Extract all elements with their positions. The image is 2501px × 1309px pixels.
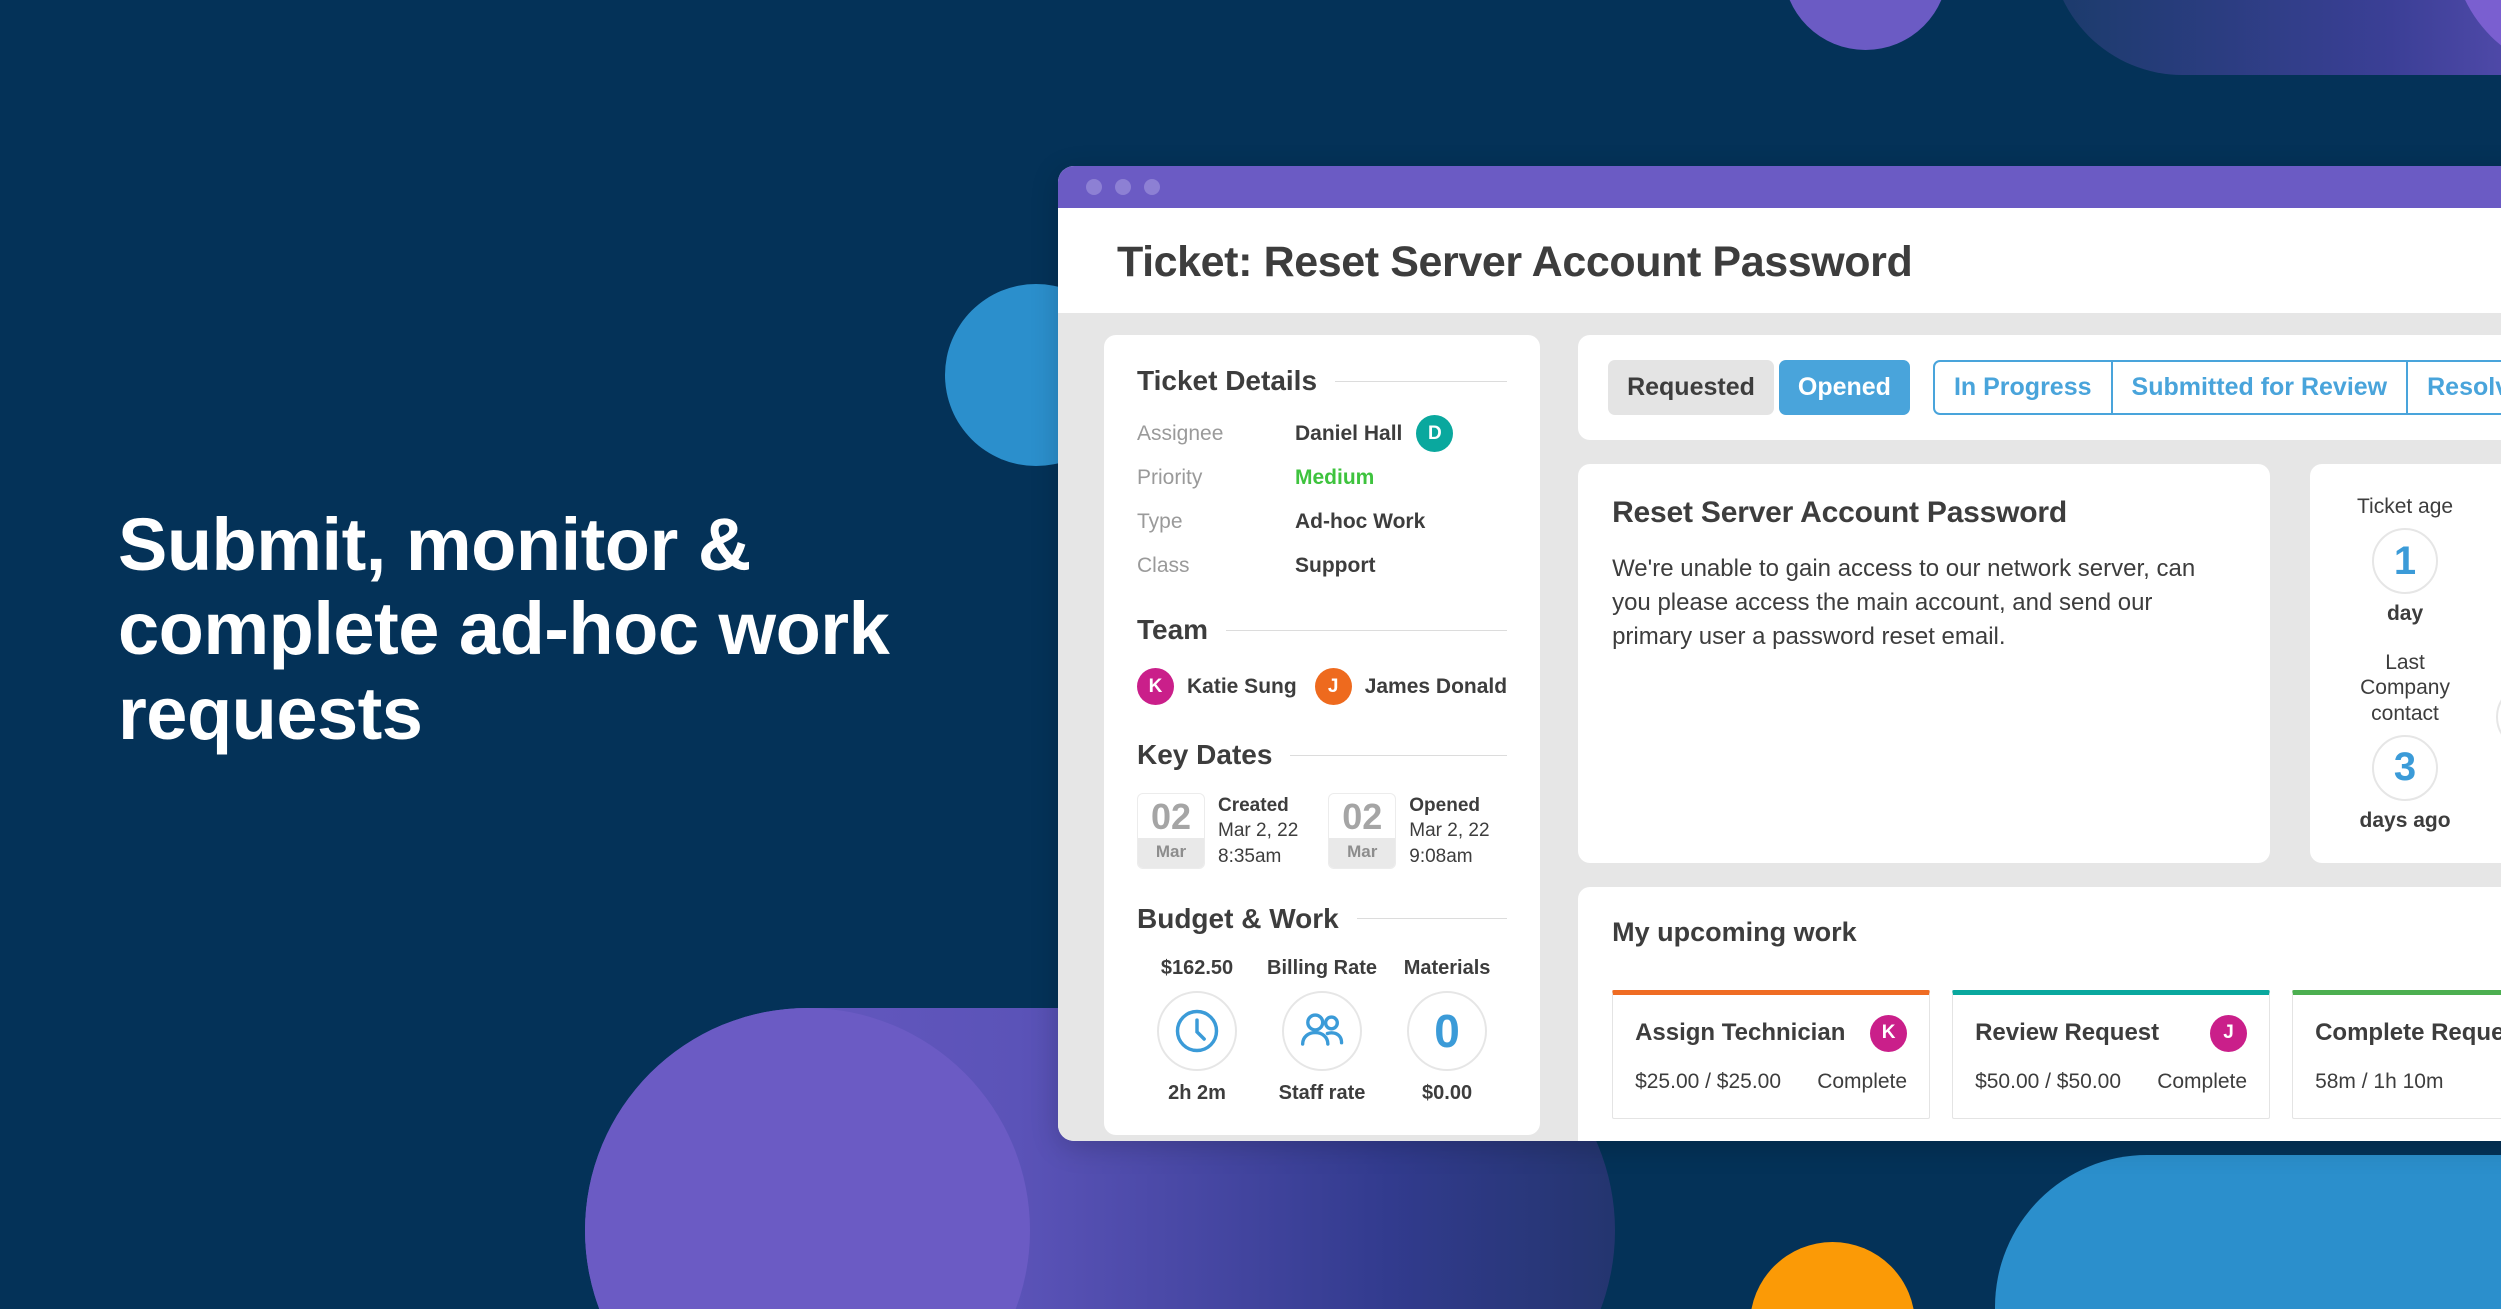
decorative-purple-pill-top: [2050, 0, 2501, 75]
window-content: Ticket Details Assignee Daniel Hall D Pr…: [1058, 313, 2501, 1141]
ticket-description-body: We're unable to gain access to our netwo…: [1612, 552, 2236, 654]
section-title: Key Dates: [1137, 739, 1272, 771]
upcoming-work-list: Assign Technician K $25.00 / $25.00 Comp…: [1612, 990, 2501, 1119]
window-titlebar: [1058, 166, 2501, 208]
team-member[interactable]: J James Donald: [1315, 668, 1507, 705]
date-text: Created Mar 2, 22 8:35am: [1218, 793, 1298, 869]
detail-row-class: Class Support: [1137, 551, 1507, 580]
budget-item-materials: Materials 0 $0.00: [1387, 957, 1507, 1105]
sidebar-column: Ticket Details Assignee Daniel Hall D Pr…: [1104, 335, 1540, 1141]
work-item-footer: 58m / 1h 10m Activ: [2315, 1070, 2501, 1094]
work-item-title: Review Request: [1975, 1019, 2159, 1047]
ticket-details-card: Ticket Details Assignee Daniel Hall D Pr…: [1104, 335, 1540, 1135]
work-item-progress: 58m / 1h 10m: [2315, 1070, 2443, 1094]
budget-materials-label: Materials: [1387, 957, 1507, 980]
window-dot-icon-3[interactable]: [1144, 179, 1160, 195]
hero-banner: Submit, monitor & complete ad-hoc work r…: [0, 0, 2501, 1309]
date-day: 02: [1329, 794, 1395, 838]
team-member-name: James Donald: [1365, 675, 1507, 699]
team-member-name: Katie Sung: [1187, 675, 1297, 699]
decorative-blue-pill-bottom: [1995, 1155, 2501, 1309]
budget-rate-label: Billing Rate: [1262, 957, 1382, 980]
ticket-details-heading: Ticket Details: [1137, 365, 1507, 397]
work-item[interactable]: Complete Request J 58m / 1h 10m Activ: [2292, 990, 2501, 1119]
work-item-footer: $25.00 / $25.00 Complete: [1635, 1070, 1907, 1094]
team-list: K Katie Sung J James Donald: [1137, 668, 1507, 705]
status-flow-card: Requested Opened In Progress Submitted f…: [1578, 335, 2501, 440]
date-time: 9:08am: [1409, 844, 1489, 869]
date-text: Opened Mar 2, 22 9:08am: [1409, 793, 1489, 869]
section-title: Team: [1137, 614, 1208, 646]
date-month: Mar: [1138, 838, 1204, 868]
divider: [1357, 918, 1507, 919]
stat-label: Last Company contact: [2344, 650, 2466, 726]
work-item[interactable]: Review Request J $50.00 / $50.00 Complet…: [1952, 990, 2270, 1119]
avatar: K: [1870, 1015, 1907, 1052]
status-step-submitted-for-review[interactable]: Submitted for Review: [2113, 362, 2409, 413]
detail-value: Ad-hoc Work: [1295, 510, 1425, 534]
work-item-header: Review Request J: [1975, 1015, 2247, 1052]
budget-rate-type: Staff rate: [1262, 1082, 1382, 1105]
stat-last-work-done: Last work d 2 hours ag: [2496, 494, 2501, 626]
stat-overdue: Overdue N/A: [2496, 650, 2501, 833]
detail-value: Daniel Hall D: [1295, 415, 1453, 452]
team-heading: Team: [1137, 614, 1507, 646]
status-badge: Complete: [2157, 1070, 2247, 1094]
number-icon: 0: [1407, 991, 1487, 1071]
page-title: Ticket: Reset Server Account Password: [1058, 208, 2501, 313]
stat-label: Overdue: [2496, 650, 2501, 675]
people-icon: [1282, 991, 1362, 1071]
ticket-stats-card: Ticket age 1 day Last work d 2 hours ag …: [2310, 464, 2501, 863]
ticket-description-card: Reset Server Account Password We're unab…: [1578, 464, 2270, 863]
work-item-footer: $50.00 / $50.00 Complete: [1975, 1070, 2247, 1094]
divider: [1290, 755, 1507, 756]
ticket-description-title: Reset Server Account Password: [1612, 496, 2236, 530]
stat-label: Last work d: [2496, 494, 2501, 519]
stat-ticket-age: Ticket age 1 day: [2344, 494, 2466, 626]
work-item-progress: $25.00 / $25.00: [1635, 1070, 1781, 1094]
budget-materials-cost: $0.00: [1387, 1082, 1507, 1105]
clock-icon: [1157, 991, 1237, 1071]
section-title: Budget & Work: [1137, 903, 1339, 935]
date-month: Mar: [1329, 838, 1395, 868]
status-step-in-progress[interactable]: In Progress: [1935, 362, 2113, 413]
stats-grid: Ticket age 1 day Last work d 2 hours ag …: [2344, 494, 2501, 833]
detail-label: Priority: [1137, 466, 1295, 490]
date-chip: 02 Mar: [1137, 793, 1205, 869]
detail-row-assignee: Assignee Daniel Hall D: [1137, 419, 1507, 448]
stat-unit: hours ag: [2496, 602, 2501, 626]
status-step-group: In Progress Submitted for Review Resolve…: [1933, 360, 2501, 415]
priority-value: Medium: [1295, 466, 1374, 490]
date-value: Mar 2, 22: [1409, 818, 1489, 843]
status-step-opened[interactable]: Opened: [1779, 360, 1910, 415]
avatar: J: [2210, 1015, 2247, 1052]
assignee-name: Daniel Hall: [1295, 422, 1402, 446]
status-step-requested[interactable]: Requested: [1608, 360, 1774, 415]
work-item-header: Complete Request J: [2315, 1015, 2501, 1052]
window-dot-icon-2[interactable]: [1115, 179, 1131, 195]
section-title: Ticket Details: [1137, 365, 1317, 397]
date-label: Opened: [1409, 793, 1489, 818]
detail-label: Assignee: [1137, 422, 1295, 446]
date-label: Created: [1218, 793, 1298, 818]
key-dates-heading: Key Dates: [1137, 739, 1507, 771]
middle-row: Reset Server Account Password We're unab…: [1578, 464, 2501, 863]
stat-unit: day: [2344, 602, 2466, 626]
divider: [1335, 381, 1507, 382]
status-step-resolved[interactable]: Resolved: [2408, 362, 2501, 413]
divider: [1226, 630, 1507, 631]
budget-amount: $162.50: [1137, 957, 1257, 980]
key-dates-list: 02 Mar Created Mar 2, 22 8:35am 02: [1137, 793, 1507, 869]
budget-item-time: $162.50 2h 2m: [1137, 957, 1257, 1105]
date-chip: 02 Mar: [1328, 793, 1396, 869]
date-day: 02: [1138, 794, 1204, 838]
avatar: K: [1137, 668, 1174, 705]
work-item[interactable]: Assign Technician K $25.00 / $25.00 Comp…: [1612, 990, 1930, 1119]
budget-work-heading: Budget & Work: [1137, 903, 1507, 935]
date-value: Mar 2, 22: [1218, 818, 1298, 843]
status-badge: Complete: [1817, 1070, 1907, 1094]
upcoming-work-title: My upcoming work: [1612, 917, 2501, 948]
hero-headline: Submit, monitor & complete ad-hoc work r…: [118, 503, 1018, 756]
stat-value: 3: [2372, 735, 2438, 801]
work-item-header: Assign Technician K: [1635, 1015, 1907, 1052]
detail-row-priority: Priority Medium: [1137, 463, 1507, 492]
window-dot-icon-1[interactable]: [1086, 179, 1102, 195]
materials-count: 0: [1434, 1008, 1460, 1054]
work-item-progress: $50.00 / $50.00: [1975, 1070, 2121, 1094]
budget-work-list: $162.50 2h 2m Billing Rate: [1137, 957, 1507, 1105]
stat-label: Ticket age: [2344, 494, 2466, 519]
stat-last-company-contact: Last Company contact 3 days ago: [2344, 650, 2466, 833]
detail-value: Support: [1295, 554, 1375, 578]
avatar[interactable]: D: [1416, 415, 1453, 452]
decorative-orange-circle: [1750, 1242, 1915, 1309]
budget-item-rate: Billing Rate Staff rate: [1262, 957, 1382, 1105]
stat-value: N/A: [2496, 684, 2501, 750]
work-item-title: Complete Request: [2315, 1019, 2501, 1047]
upcoming-work-card: My upcoming work Assign Technician K $25…: [1578, 887, 2501, 1141]
key-date-created: 02 Mar Created Mar 2, 22 8:35am: [1137, 793, 1298, 869]
date-time: 8:35am: [1218, 844, 1298, 869]
decorative-purple-circle-top: [1783, 0, 1948, 50]
app-window: Ticket: Reset Server Account Password Ti…: [1058, 166, 2501, 1141]
team-member[interactable]: K Katie Sung: [1137, 668, 1297, 705]
stat-value: 1: [2372, 528, 2438, 594]
detail-row-type: Type Ad-hoc Work: [1137, 507, 1507, 536]
work-item-title: Assign Technician: [1635, 1019, 1845, 1047]
detail-label: Class: [1137, 554, 1295, 578]
main-column: Requested Opened In Progress Submitted f…: [1578, 335, 2501, 1141]
budget-time-logged: 2h 2m: [1137, 1082, 1257, 1105]
stat-unit: days ago: [2344, 809, 2466, 833]
avatar: J: [1315, 668, 1352, 705]
key-date-opened: 02 Mar Opened Mar 2, 22 9:08am: [1328, 793, 1489, 869]
detail-label: Type: [1137, 510, 1295, 534]
